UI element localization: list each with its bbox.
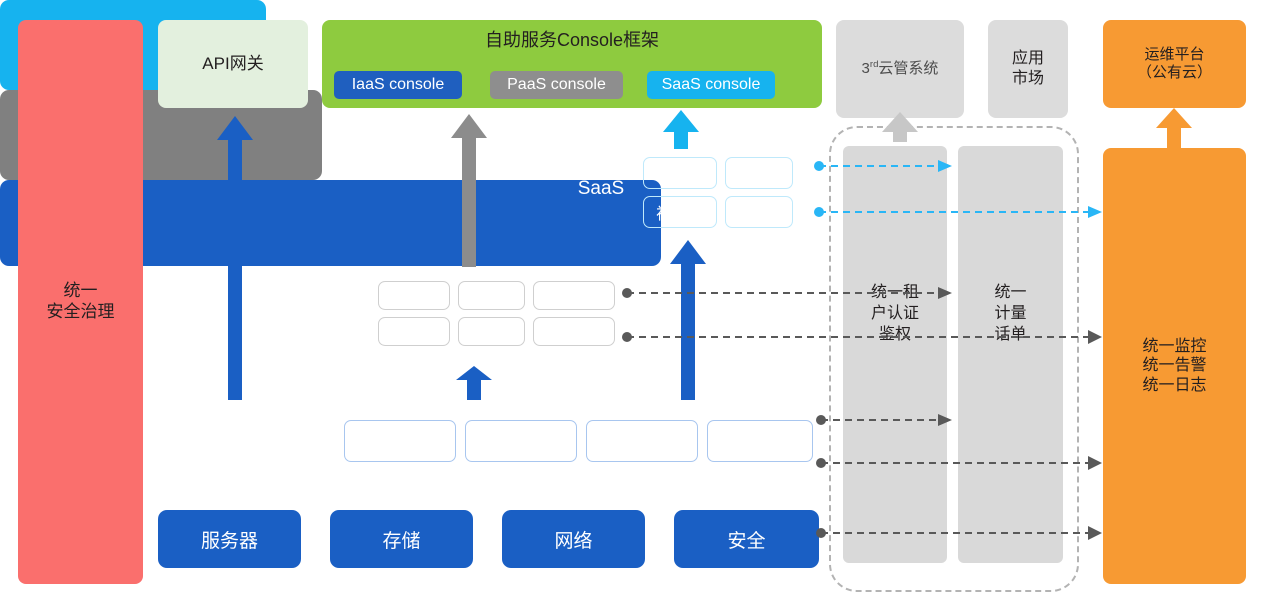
saas-chip-video-cloud[interactable]: 视频云 <box>643 196 717 228</box>
saas-chip-desktop-cloud[interactable]: 桌面云 <box>725 196 793 228</box>
third-party-cloud-management-box: 3rd云管系统 <box>836 20 964 118</box>
ops-main-line-2: 统一告警 <box>1142 356 1206 376</box>
ops-main-line-1: 统一监控 <box>1142 337 1206 357</box>
metering-line-1: 统一 <box>958 283 1063 304</box>
tenant-auth-column <box>843 146 947 563</box>
iaas-console-chip[interactable]: IaaS console <box>334 71 462 99</box>
paas-chip-modelarts[interactable]: ModelArts <box>533 281 615 310</box>
ops-platform-public-cloud-box: 运维平台 （公有云） <box>1103 20 1246 108</box>
app-market-line-1: 应用 <box>1012 49 1044 69</box>
third-party-label: 3rd云管系统 <box>862 59 939 78</box>
tenant-auth-label: 统一租 户认证 鉴权 <box>843 283 947 345</box>
infra-chip-compute[interactable]: Compute <box>344 420 456 462</box>
arrow-ops-main-to-ops-top <box>1156 108 1192 148</box>
metering-billing-column <box>958 146 1063 563</box>
paas-layer-label: PaaS <box>313 298 385 320</box>
saas-chip-blockchain[interactable]: 区块链 <box>643 157 717 189</box>
app-market-line-2: 市场 <box>1012 69 1044 89</box>
tenant-auth-line-1: 统一租 <box>843 283 947 304</box>
arrow-infra-to-paas <box>456 366 492 400</box>
paas-chip-cache[interactable]: 缓存 <box>458 317 525 346</box>
security-line-1: 统一 <box>47 281 115 302</box>
architecture-diagram: 统一 安全治理 API网关 自助服务Console框架 IaaS console… <box>0 0 1265 605</box>
tenant-auth-line-2: 户认证 <box>843 304 947 325</box>
arrow-infra-to-saas <box>670 240 706 400</box>
saas-chip-iot[interactable]: IoT <box>725 157 793 189</box>
saas-layer-label: SaaS <box>563 178 639 200</box>
arrow-saas-to-saas-console <box>663 110 699 149</box>
infra-chip-storage[interactable]: Storage <box>465 420 577 462</box>
metering-billing-label: 统一 计量 话单 <box>958 283 1063 345</box>
api-gateway-box: API网关 <box>158 20 308 108</box>
resource-box-network[interactable]: 网络 <box>502 510 645 568</box>
unified-security-governance-panel: 统一 安全治理 <box>18 20 143 584</box>
resource-box-server[interactable]: 服务器 <box>158 510 301 568</box>
ops-main-line-3: 统一日志 <box>1142 376 1206 396</box>
saas-console-chip[interactable]: SaaS console <box>647 71 775 99</box>
paas-chip-dgc[interactable]: DGC <box>458 281 525 310</box>
resource-box-storage[interactable]: 存储 <box>330 510 473 568</box>
paas-chip-bigdata[interactable]: 大数据 <box>533 317 615 346</box>
resource-box-security[interactable]: 安全 <box>674 510 819 568</box>
paas-chip-roma[interactable]: ROMA <box>378 281 450 310</box>
api-gateway-label: API网关 <box>202 54 263 75</box>
infra-chip-cce[interactable]: CCE <box>707 420 813 462</box>
ops-top-line-2: （公有云） <box>1137 64 1212 82</box>
paas-chip-database[interactable]: 数据库 <box>378 317 450 346</box>
ops-top-line-1: 运维平台 <box>1137 46 1212 64</box>
infra-chip-network[interactable]: Network <box>586 420 698 462</box>
metering-line-2: 计量 <box>958 304 1063 325</box>
unified-infrastructure-label: 统一基础设施服务 <box>170 427 314 453</box>
console-frame-title: 自助服务Console框架 <box>322 28 822 54</box>
app-market-box: 应用 市场 <box>988 20 1068 118</box>
unified-monitoring-panel: 统一监控 统一告警 统一日志 <box>1103 148 1246 584</box>
metering-line-3: 话单 <box>958 325 1063 346</box>
security-line-2: 安全治理 <box>47 302 115 323</box>
tenant-auth-line-3: 鉴权 <box>843 325 947 346</box>
paas-console-chip[interactable]: PaaS console <box>490 71 623 99</box>
